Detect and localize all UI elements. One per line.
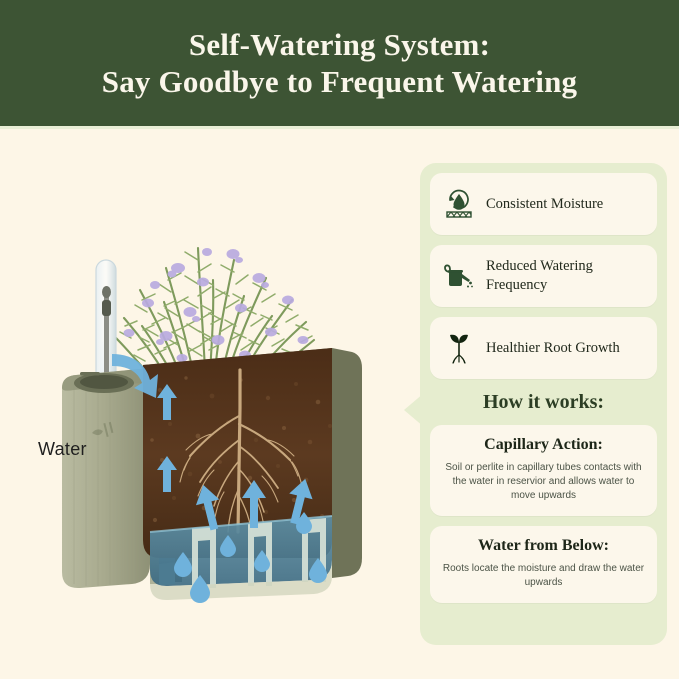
step-card-capillary-action[interactable]: Capillary Action: Soil or perlite in cap… xyxy=(430,425,657,516)
seedling-roots-icon xyxy=(442,329,476,367)
infographic-root: Self-Watering System: Say Goodbye to Fre… xyxy=(0,0,679,679)
moisture-droplet-soil-icon xyxy=(442,185,476,223)
header-title-line2: Say Goodbye to Frequent Watering xyxy=(102,63,577,100)
feature-card-consistent-moisture[interactable]: Consistent Moisture xyxy=(430,173,657,235)
header-banner: Self-Watering System: Say Goodbye to Fre… xyxy=(0,0,679,126)
planter-illustration: Water xyxy=(0,140,410,640)
watering-can-icon xyxy=(442,257,476,295)
header-divider xyxy=(0,126,679,129)
step-body: Roots locate the moisture and draw the w… xyxy=(442,562,645,590)
panel-content: Consistent Moisture Reduced Watering Fre… xyxy=(430,173,657,613)
feature-label: Healthier Root Growth xyxy=(486,339,620,358)
planter-diagram-svg xyxy=(0,140,410,640)
feature-card-healthier-roots[interactable]: Healthier Root Growth xyxy=(430,317,657,379)
header-title-line1: Self-Watering System: xyxy=(189,26,490,63)
step-card-water-from-below[interactable]: Water from Below: Roots locate the moist… xyxy=(430,526,657,603)
feature-label: Reduced Watering Frequency xyxy=(486,257,645,295)
step-title: Capillary Action: xyxy=(442,436,645,454)
feature-label: Consistent Moisture xyxy=(486,195,603,214)
step-title: Water from Below: xyxy=(442,537,645,555)
water-label: Water xyxy=(38,439,87,460)
how-it-works-heading: How it works: xyxy=(430,391,657,414)
feature-card-reduced-watering[interactable]: Reduced Watering Frequency xyxy=(430,245,657,307)
step-body: Soil or perlite in capillary tubes conta… xyxy=(442,461,645,503)
